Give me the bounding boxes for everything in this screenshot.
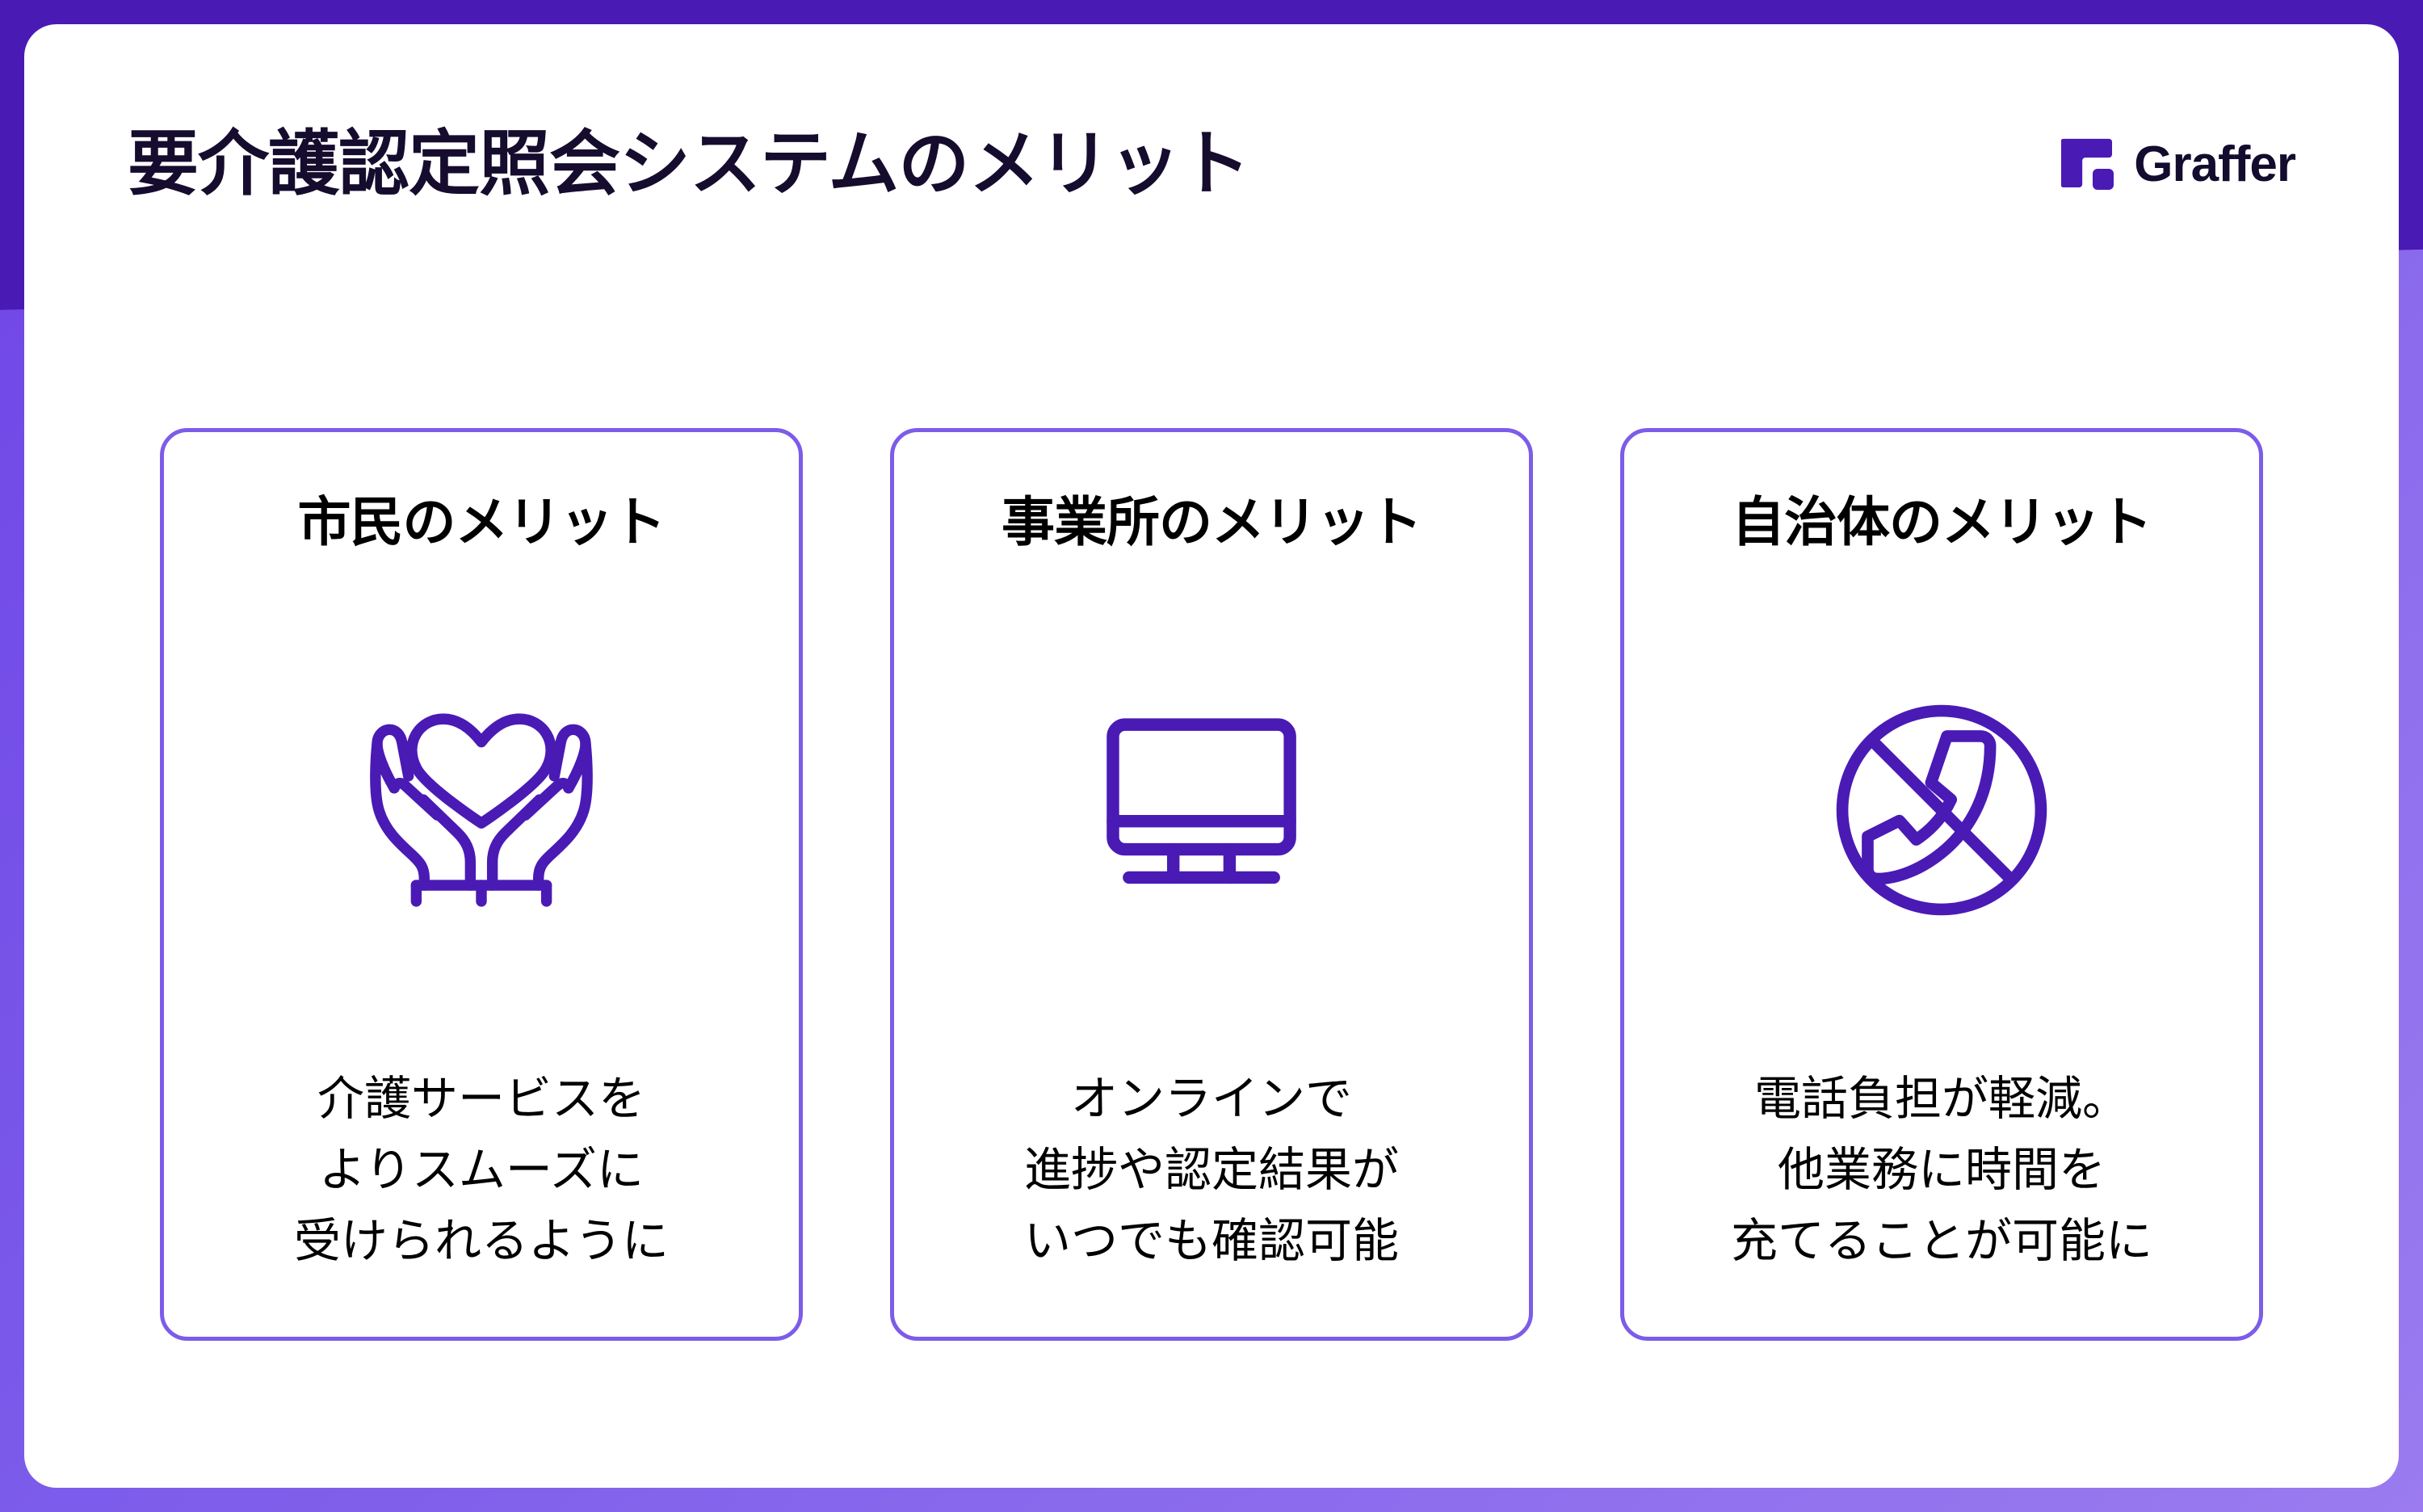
benefit-card-municipality: 自治体のメリット 電話負担が軽減。 他業務に時間を 充てることが可能に <box>1620 428 2263 1341</box>
card-body-line: 介護サービスを <box>294 1064 669 1135</box>
card-title: 市民のメリット <box>298 479 666 556</box>
card-body-line: 他業務に時間を <box>1731 1135 2152 1206</box>
graffer-logo: Graffer <box>2061 136 2295 193</box>
card-body-line: いつでも確認可能 <box>1024 1206 1399 1277</box>
desktop-monitor-icon <box>1105 716 1318 904</box>
card-body-line: 充てることが可能に <box>1731 1206 2152 1277</box>
card-body-line: オンラインで <box>1024 1064 1399 1135</box>
benefit-cards: 市民のメリット <box>160 428 2263 1341</box>
graffer-logo-mark-icon <box>2061 137 2114 191</box>
hands-holding-heart-icon <box>364 706 598 914</box>
card-body-line: よりスムーズに <box>294 1135 669 1206</box>
benefit-card-provider: 事業所のメリット オンラインで 進捗や認定結果が いつでも確認可能 <box>890 428 1533 1341</box>
card-title: 事業所のメリット <box>1002 479 1421 556</box>
no-phone-call-icon <box>1832 700 2051 920</box>
card-icon-wrapper <box>180 556 783 1064</box>
card-body: オンラインで 進捗や認定結果が いつでも確認可能 <box>1024 1064 1399 1283</box>
graffer-wordmark: Graffer <box>2134 136 2295 193</box>
card-body: 電話負担が軽減。 他業務に時間を 充てることが可能に <box>1731 1064 2152 1283</box>
slide-panel: 要介護認定照会システムのメリット Graffer 市民のメリット <box>24 24 2399 1488</box>
card-icon-wrapper <box>910 556 1513 1064</box>
card-body: 介護サービスを よりスムーズに 受けられるように <box>294 1064 669 1283</box>
slide-header: 要介護認定照会システムのメリット Graffer <box>128 111 2295 216</box>
card-body-line: 受けられるように <box>294 1206 669 1277</box>
card-body-line: 電話負担が軽減。 <box>1731 1064 2152 1135</box>
card-icon-wrapper <box>1640 556 2243 1064</box>
card-title: 自治体のメリット <box>1732 479 2152 556</box>
benefit-card-citizen: 市民のメリット <box>160 428 803 1341</box>
page-title: 要介護認定照会システムのメリット <box>128 127 1249 201</box>
card-body-line: 進捗や認定結果が <box>1024 1135 1399 1206</box>
